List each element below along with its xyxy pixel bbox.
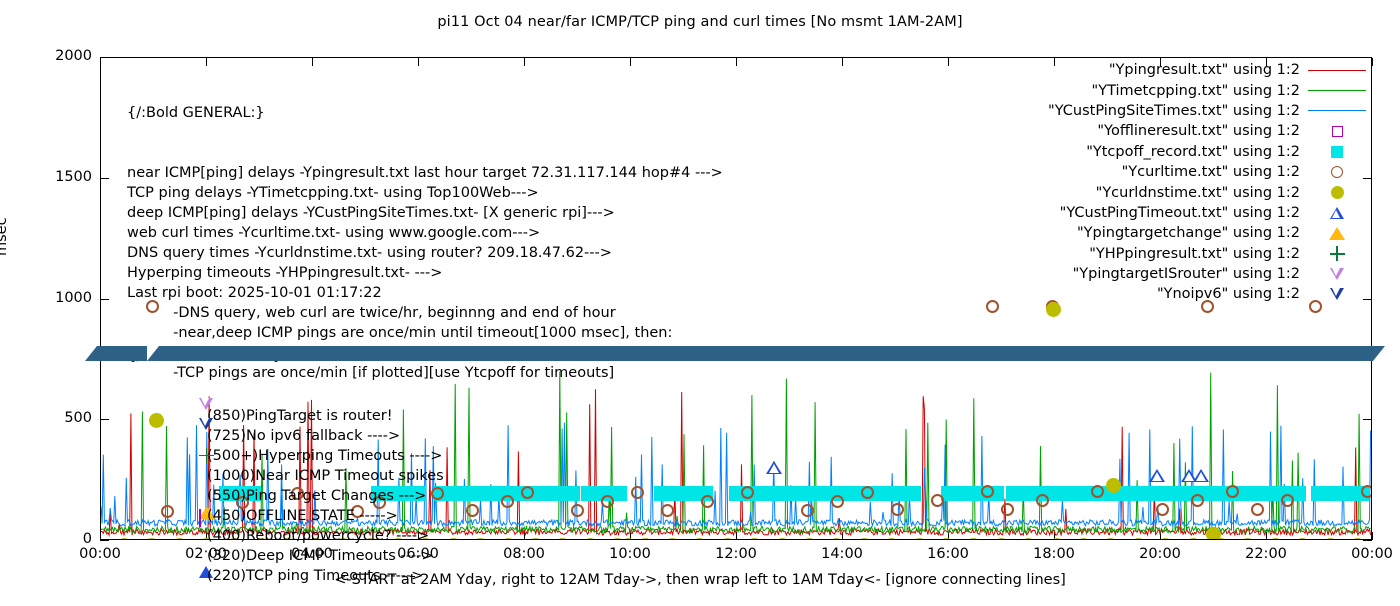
deep-icmp-timeout-marker	[766, 461, 782, 474]
general-line: DNS query times -Ycurldnstime.txt- using…	[127, 243, 723, 263]
band-left-notch-icon	[85, 346, 97, 361]
x-tick-label: 18:00	[1033, 546, 1075, 562]
anomaly-label: (850)PingTarget is router!	[127, 408, 393, 424]
anomaly-row: (850)PingTarget is router!	[127, 406, 444, 426]
legend-key	[1306, 223, 1368, 243]
circle-open-icon	[1331, 166, 1343, 178]
plus-icon	[1330, 246, 1345, 261]
legend-key	[1306, 284, 1368, 304]
anomaly-label: (400)Reboot/powercycle? ---->	[127, 528, 429, 544]
square-open-icon	[1332, 126, 1343, 137]
x-tick-label: 10:00	[609, 546, 651, 562]
legend-key	[1306, 101, 1368, 121]
anomaly-row: (450)OFFLINE STATE ----->	[127, 506, 444, 526]
curl-time-marker	[1156, 503, 1169, 516]
legend-row[interactable]: "Ypingtargetchange" using 1:2	[1048, 223, 1368, 243]
y-tick-label: 500	[0, 410, 92, 426]
anomaly-label: (500+)Hyperping Timeouts ---->	[127, 448, 442, 464]
curl-time-marker	[1361, 485, 1371, 498]
curl-time-marker	[1191, 494, 1204, 507]
curl-time-marker	[1281, 494, 1294, 507]
curl-time-marker	[861, 486, 874, 499]
general-line: near ICMP[ping] delays -Ypingresult.txt …	[127, 163, 723, 183]
x-axis-caption: <-START at 2AM Yday, right to 12AM Tday-…	[0, 572, 1400, 588]
legend-row[interactable]: "YCustPingTimeout.txt" using 1:2	[1048, 203, 1368, 223]
legend-row[interactable]: "Ytcpoff_record.txt" using 1:2	[1048, 142, 1368, 162]
y-tick-label: 0	[0, 531, 92, 547]
legend: "Ypingresult.txt" using 1:2"YTimetcpping…	[1048, 60, 1368, 305]
triangle-down-navy-icon	[199, 418, 213, 446]
curl-time-marker	[661, 504, 674, 517]
anomaly-rows: (850)PingTarget is router!(725)No ipv6 f…	[127, 406, 444, 586]
x-tick-mark	[1372, 58, 1373, 66]
circle-fill-icon	[1331, 186, 1344, 199]
dns-time-marker	[1206, 527, 1221, 540]
curl-time-marker	[831, 495, 844, 508]
general-line: deep ICMP[ping] delays -YCustPingSiteTim…	[127, 203, 723, 223]
legend-label: "YTimetcpping.txt" using 1:2	[1092, 83, 1300, 99]
x-tick-label: 12:00	[715, 546, 757, 562]
legend-label: "Yofflineresult.txt" using 1:2	[1097, 123, 1300, 139]
curl-time-spike-marker	[986, 300, 999, 313]
x-tick-label: 14:00	[821, 546, 863, 562]
anomaly-label: (725)No ipv6 fallback ---->	[127, 428, 400, 444]
general-heading: {/:Bold GENERAL:}	[127, 103, 723, 123]
legend-key	[1306, 81, 1368, 101]
legend-key	[1306, 142, 1368, 162]
tcp-timeout-bar	[434, 486, 502, 501]
page-title: pi11 Oct 04 near/far ICMP/TCP ping and c…	[0, 14, 1400, 30]
x-tick-label: 16:00	[927, 546, 969, 562]
y-tick-label: 1000	[0, 290, 92, 306]
x-tick-label: 20:00	[1139, 546, 1181, 562]
legend-row[interactable]: "Ycurltime.txt" using 1:2	[1048, 162, 1368, 182]
legend-key	[1306, 264, 1368, 284]
anomaly-row: (550)Ping Target Changes --->	[127, 486, 444, 506]
legend-row[interactable]: "Ynoipv6" using 1:2	[1048, 284, 1368, 304]
tcp-timeout-bar	[1113, 486, 1167, 501]
legend-label: "Ycurldnstime.txt" using 1:2	[1096, 185, 1300, 201]
x-tick-mark	[1372, 532, 1373, 540]
deep-icmp-timeout-marker	[1193, 469, 1209, 482]
legend-key	[1306, 183, 1368, 203]
legend-label: "Ycurltime.txt" using 1:2	[1122, 164, 1300, 180]
anomaly-label: (1000)Near ICMP Timeout spikes	[127, 468, 444, 484]
band-right-notch-icon	[1373, 346, 1385, 361]
anomaly-label: (320)Deep ICMP Timeouts ---->	[127, 548, 434, 564]
selection-band-overlay[interactable]	[85, 346, 1385, 361]
triangle-up-open-icon	[1330, 207, 1344, 219]
anomaly-row: (1000)Near ICMP Timeout spikes	[127, 466, 444, 486]
legend-row[interactable]: "YTimetcpping.txt" using 1:2	[1048, 80, 1368, 100]
general-line: Last rpi boot: 2025-10-01 01:17:22	[127, 283, 723, 303]
y-tick-mark	[1363, 540, 1372, 541]
triangle-up-fill-icon	[1329, 227, 1345, 240]
curl-time-marker	[1251, 503, 1264, 516]
anomaly-row: (320)Deep ICMP Timeouts ---->	[127, 546, 444, 566]
x-tick-label: 08:00	[503, 546, 545, 562]
legend-row[interactable]: "Ypingresult.txt" using 1:2	[1048, 60, 1368, 80]
legend-row[interactable]: "YpingtargetISrouter" using 1:2	[1048, 264, 1368, 284]
curl-time-marker	[801, 504, 814, 517]
legend-label: "YCustPingTimeout.txt" using 1:2	[1060, 205, 1300, 221]
y-tick-label: 1500	[0, 169, 92, 185]
legend-label: "YpingtargetISrouter" using 1:2	[1073, 266, 1300, 282]
legend-key	[1306, 203, 1368, 223]
y-tick-mark	[100, 540, 109, 541]
legend-label: "Ynoipv6" using 1:2	[1157, 286, 1300, 302]
anomaly-row: (500+)Hyperping Timeouts ---->	[127, 446, 444, 466]
legend-label: "Ytcpoff_record.txt" using 1:2	[1086, 144, 1300, 160]
legend-label: "YCustPingSiteTimes.txt" using 1:2	[1048, 103, 1300, 119]
legend-label: "YHPpingresult.txt" using 1:2	[1089, 246, 1300, 262]
legend-key	[1306, 60, 1368, 80]
square-open-icon	[199, 509, 201, 527]
general-line: TCP ping delays -YTimetcpping.txt- using…	[127, 183, 723, 203]
legend-key	[1306, 162, 1368, 182]
curl-time-marker	[701, 495, 714, 508]
legend-key	[1306, 244, 1368, 264]
tcp-timeout-bar	[871, 486, 921, 501]
curl-time-marker	[1001, 503, 1014, 516]
legend-row[interactable]: "Yofflineresult.txt" using 1:2	[1048, 121, 1368, 141]
legend-label: "Ypingresult.txt" using 1:2	[1109, 62, 1300, 78]
x-tick-label: 22:00	[1245, 546, 1287, 562]
square-fill-icon	[1331, 146, 1343, 158]
curl-time-marker	[1226, 485, 1239, 498]
curl-time-marker	[741, 486, 754, 499]
y-tick-label: 2000	[0, 48, 92, 64]
anomaly-row: (400)Reboot/powercycle? ---->	[127, 526, 444, 546]
legend-label: "Ypingtargetchange" using 1:2	[1077, 225, 1300, 241]
deep-icmp-timeout-marker	[1149, 469, 1165, 482]
y-axis-label: msec	[0, 217, 10, 256]
anomaly-row: (725)No ipv6 fallback ---->	[127, 426, 444, 446]
triangle-down-navy-icon	[1330, 288, 1344, 300]
tcp-timeout-bar	[941, 486, 1004, 501]
legend-row[interactable]: "YCustPingSiteTimes.txt" using 1:2	[1048, 101, 1368, 121]
general-line: Hyperping timeouts -YHPpingresult.txt- -…	[127, 263, 723, 283]
tcp-timeout-bar	[729, 486, 801, 501]
x-tick-label: 00:00	[1351, 546, 1393, 562]
legend-row[interactable]: "Ycurldnstime.txt" using 1:2	[1048, 182, 1368, 202]
triangle-down-open-icon	[1330, 268, 1344, 280]
legend-key	[1306, 121, 1368, 141]
x-tick-label: 00:00	[79, 546, 121, 562]
general-line: web curl times -Ycurltime.txt- using www…	[127, 223, 723, 243]
legend-row[interactable]: "YHPpingresult.txt" using 1:2	[1048, 244, 1368, 264]
anomaly-label: (550)Ping Target Changes --->	[127, 488, 426, 504]
anomaly-label: (450)OFFLINE STATE ----->	[127, 508, 398, 524]
band-mid-notch-icon	[147, 346, 159, 361]
curl-time-marker	[571, 504, 584, 517]
